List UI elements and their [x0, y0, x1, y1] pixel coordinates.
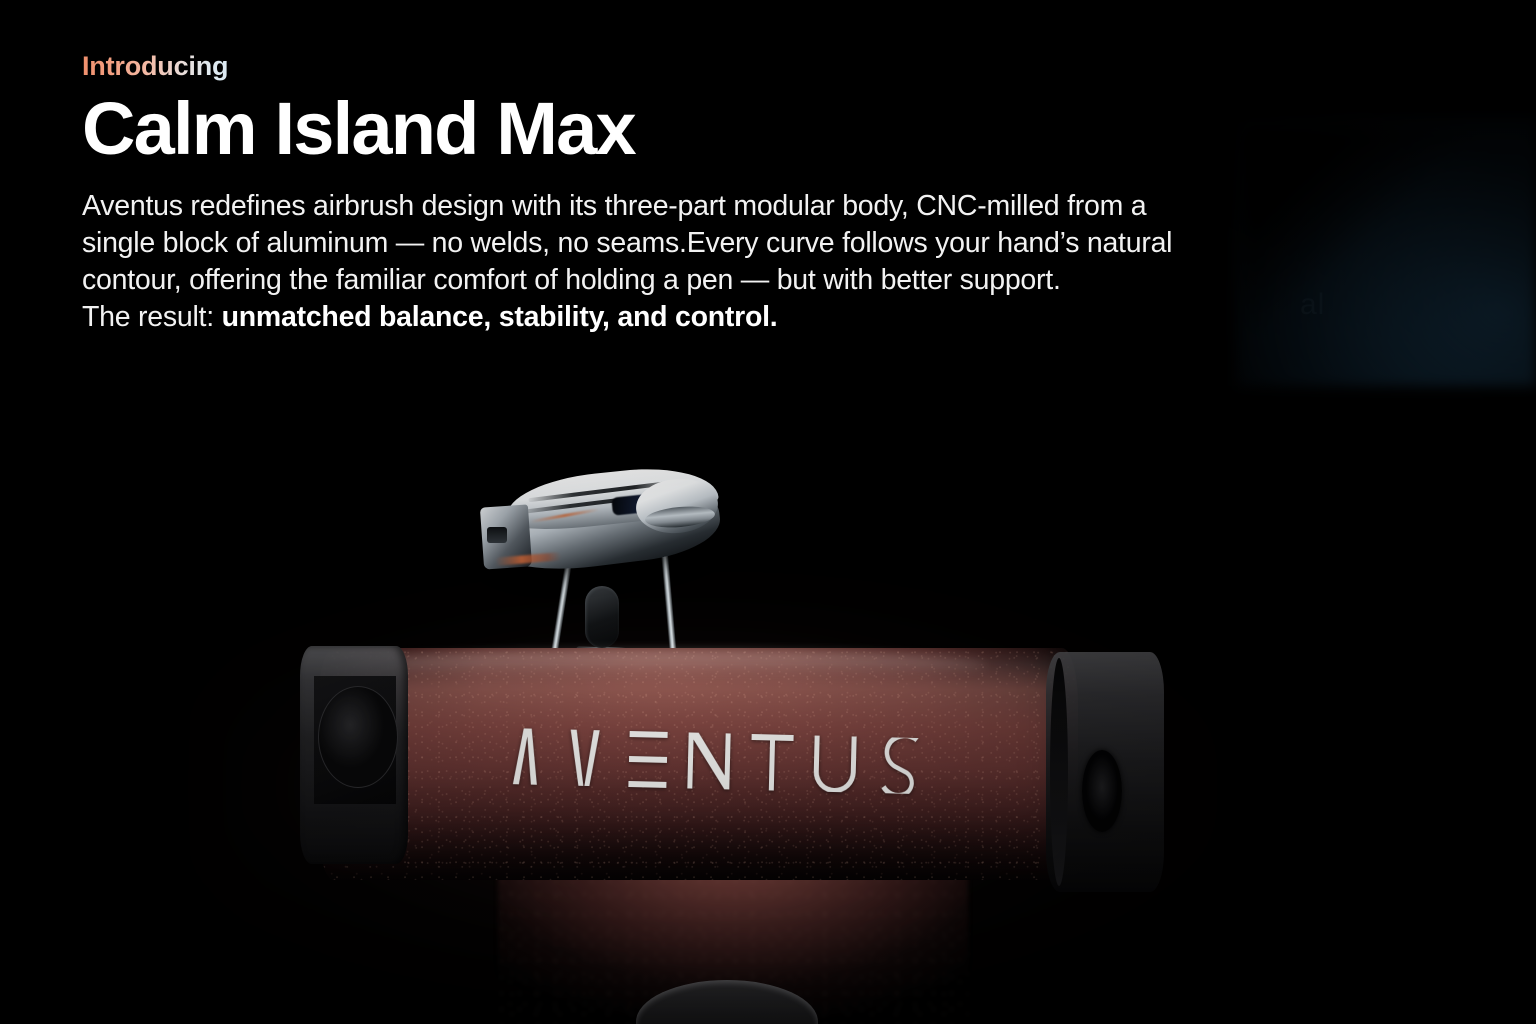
trigger-dark-slot: [611, 490, 684, 515]
trigger-post-left: [549, 555, 573, 667]
brass-screw: [643, 652, 656, 665]
grip-flare-texture: [498, 846, 968, 1024]
trigger-cross-brace: [576, 646, 672, 655]
warm-product-glow: [190, 560, 1250, 1024]
wordmark-letter-s: [876, 737, 919, 794]
trigger-groove-lower: [519, 490, 686, 514]
wordmark-letter-e: [628, 731, 669, 788]
ghost-text: al: [1300, 288, 1325, 322]
front-collar: [1046, 652, 1164, 892]
trigger-chrome-disc: [634, 476, 720, 537]
wordmark-letter-a: [502, 728, 547, 785]
trigger-lever-top-fin: [504, 461, 720, 535]
trigger-tail-block: [480, 504, 532, 569]
hero-description-lead: Aventus redefines airbrush design with i…: [82, 190, 1172, 296]
front-collar-ring: [1050, 658, 1068, 886]
aventus-wordmark: [502, 728, 919, 794]
rear-collar: [300, 646, 408, 864]
trigger-warm-reflection: [495, 552, 561, 566]
hero-description: Aventus redefines airbrush design with i…: [82, 188, 1217, 336]
needle-cap: [585, 586, 619, 648]
wordmark-letter-v: [565, 729, 610, 786]
trigger-groove-upper: [528, 480, 679, 502]
trigger-post-right: [660, 543, 678, 669]
trigger-tail-notch: [487, 527, 507, 543]
wordmark-letter-u: [813, 736, 858, 793]
blue-glow: [1236, 118, 1536, 386]
eyebrow-label: Introducing: [82, 52, 228, 81]
handle-stem: [636, 980, 818, 1024]
wordmark-letter-t: [750, 734, 795, 791]
blue-glow-edge-mask: [1240, 125, 1536, 380]
page-title: Calm Island Max: [82, 93, 1232, 166]
hero-copy: Introducing Calm Island Max Aventus rede…: [82, 52, 1232, 336]
barrel-metallic-flake: [318, 648, 1078, 880]
trigger-chrome-lip: [644, 504, 715, 530]
grip-flare: [498, 846, 968, 1024]
barrel-top-highlight: [348, 650, 986, 680]
hero-result-emphasis: unmatched balance, stability, and contro…: [222, 301, 778, 333]
front-collar-port: [1082, 750, 1122, 832]
hero-result-label: The result:: [82, 301, 222, 333]
rear-collar-port: [318, 686, 398, 788]
hero-banner: al: [0, 0, 1536, 1024]
wordmark-letter-n: [687, 732, 732, 789]
airbrush-barrel: [318, 648, 1078, 880]
trigger-warm-highlight: [530, 508, 599, 523]
rear-collar-window: [314, 676, 396, 804]
trigger-lever-body: [482, 473, 724, 579]
